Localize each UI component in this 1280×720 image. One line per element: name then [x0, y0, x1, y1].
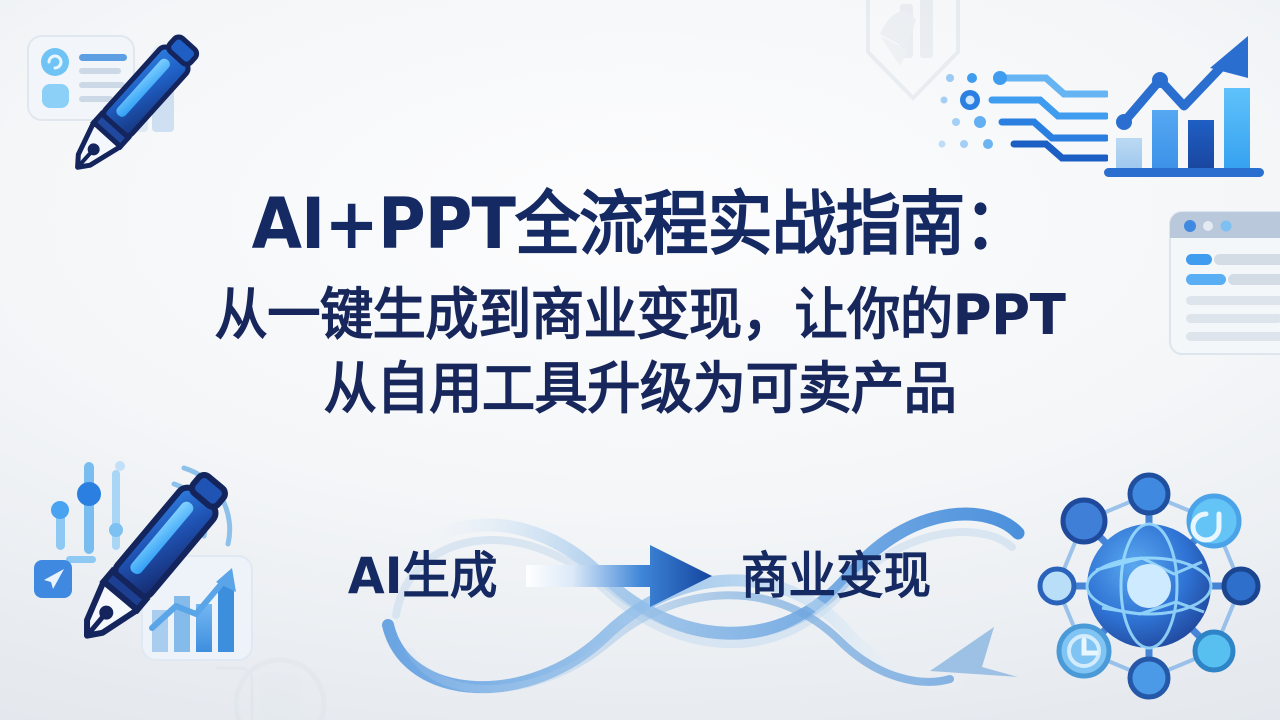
right-arrow-icon — [524, 543, 714, 609]
process-callout: AI生成 商业变现 — [0, 528, 1280, 624]
title-block: AI+PPT全流程实战指南： 从一键生成到商业变现，让你的PPT 从自用工具升级… — [0, 182, 1280, 426]
page-title: AI+PPT全流程实战指南： — [45, 182, 1235, 266]
slide-canvas: AI+PPT全流程实战指南： 从一键生成到商业变现，让你的PPT 从自用工具升级… — [0, 0, 1280, 720]
callout-left-label: AI生成 — [348, 546, 497, 606]
circuit-data-lines-icon — [928, 62, 1108, 162]
subtitle-line-1: 从一键生成到商业变现，让你的PPT — [32, 280, 1248, 352]
callout-right-label: 商业变现 — [741, 546, 931, 606]
subtitle-line-2: 从自用工具升级为可卖产品 — [32, 354, 1248, 426]
bar-chart-growth-arrow-icon — [1098, 26, 1270, 194]
